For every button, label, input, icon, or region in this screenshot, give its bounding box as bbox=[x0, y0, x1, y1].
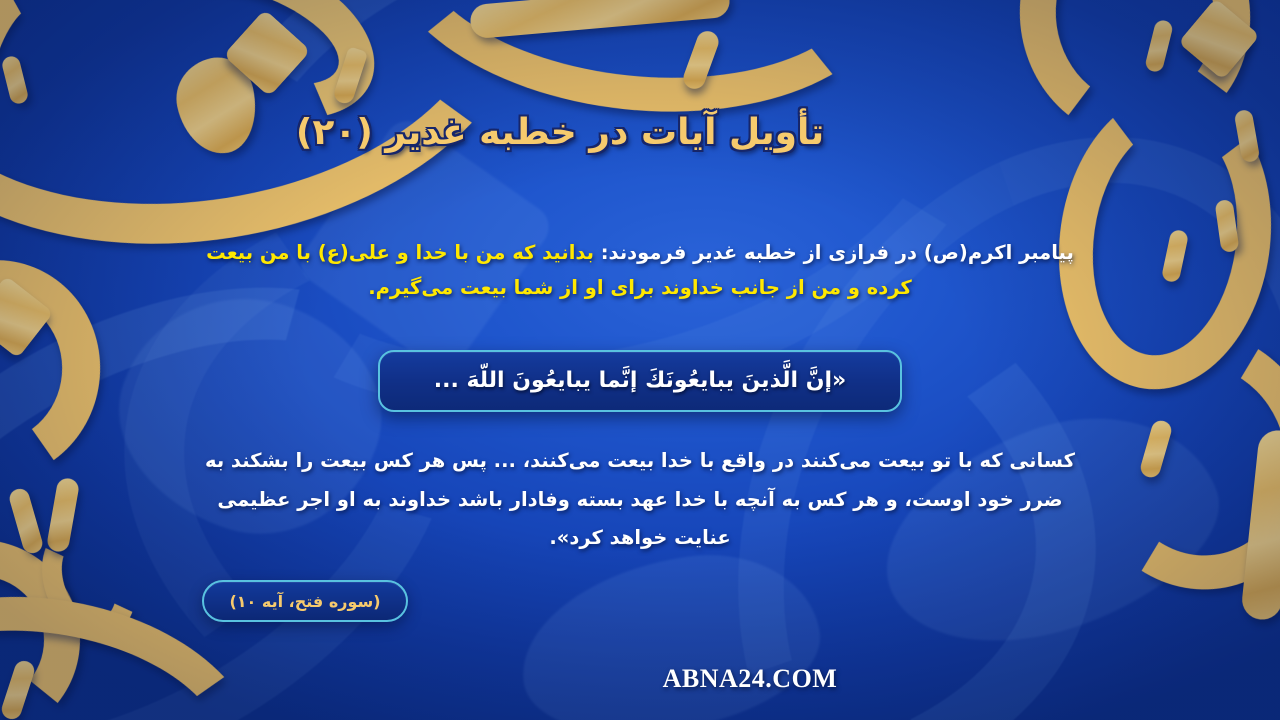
site-watermark: ABNA24.COM bbox=[0, 664, 1280, 694]
poster-canvas: تأویل آیات در خطبه غدیر (۲۰) پیامبر اکرم… bbox=[0, 0, 1280, 720]
source-badge-label: (سوره فتح، آیه ۱۰) bbox=[229, 592, 380, 611]
page-title: تأویل آیات در خطبه غدیر (۲۰) bbox=[0, 112, 1280, 153]
lead-paragraph: پیامبر اکرم(ص) در فرازی از خطبه غدیر فرم… bbox=[190, 236, 1090, 305]
quran-verse-box: «إنَّ الَّذينَ يبايعُونَكَ إنَّما يبايعُ… bbox=[378, 350, 902, 412]
quran-verse-text: «إنَّ الَّذينَ يبايعُونَكَ إنَّما يبايعُ… bbox=[434, 368, 847, 394]
verse-translation: کسانی که با تو بیعت می‌کنند در واقع با خ… bbox=[186, 442, 1094, 558]
source-badge: (سوره فتح، آیه ۱۰) bbox=[202, 580, 408, 622]
lead-intro-text: پیامبر اکرم(ص) در فرازی از خطبه غدیر فرم… bbox=[594, 241, 1074, 264]
poster-content: تأویل آیات در خطبه غدیر (۲۰) پیامبر اکرم… bbox=[0, 0, 1280, 720]
